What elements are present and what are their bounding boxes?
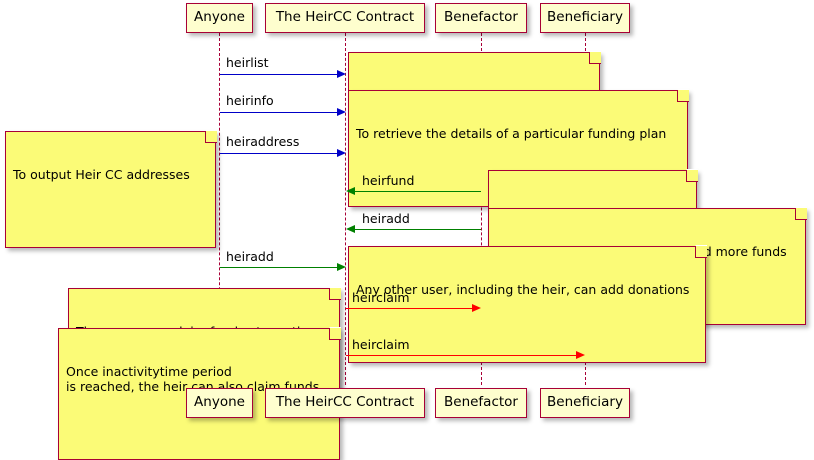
message-arrow-heiradd-any [220, 267, 338, 268]
participant-label: Benefactor [444, 396, 518, 410]
note-fold-icon [686, 170, 698, 182]
participant-benefactor-bottom[interactable]: Benefactor [435, 388, 527, 418]
participant-contract-top[interactable]: The HeirCC Contract [265, 3, 425, 33]
message-arrowhead-heiradd-any [337, 263, 346, 271]
note-text: To retrieve the details of a particular … [356, 126, 679, 141]
note-fold-icon [677, 90, 689, 102]
message-arrowhead-heirfund [346, 187, 355, 195]
note-fold-icon [205, 131, 217, 143]
participant-anyone-top[interactable]: Anyone [186, 3, 253, 33]
participant-contract-bottom[interactable]: The HeirCC Contract [265, 388, 425, 418]
participant-benefactor-top[interactable]: Benefactor [435, 3, 527, 33]
message-label-heiradd-owner: heiradd [362, 213, 410, 226]
message-arrowhead-heirinfo [337, 108, 346, 116]
message-label-heiraddress: heiraddress [226, 136, 299, 149]
note-fold-icon [329, 328, 341, 340]
lifeline-contract [345, 33, 346, 385]
participant-label: The HeirCC Contract [276, 11, 414, 25]
message-arrowhead-heiradd-owner [346, 225, 355, 233]
message-label-heirinfo: heirinfo [226, 95, 274, 108]
participant-label: Benefactor [444, 11, 518, 25]
message-arrowhead-heirlist [337, 70, 346, 78]
message-label-heiradd-any: heiradd [226, 251, 274, 264]
message-arrow-heirclaim-owner [346, 308, 473, 309]
sequence-diagram: Anyone The HeirCC Contract Benefactor Be… [0, 0, 814, 425]
message-arrow-heiraddress [220, 153, 338, 154]
message-label-heirlist: heirlist [226, 57, 269, 70]
message-arrow-heirclaim-heir [346, 355, 577, 356]
note-fold-icon [795, 208, 807, 220]
note-fold-icon [329, 288, 341, 300]
participant-label: Anyone [194, 11, 245, 25]
note-fold-icon [589, 52, 601, 64]
message-label-heirclaim-owner: heirclaim [352, 292, 410, 305]
message-label-heirfund: heirfund [362, 175, 414, 188]
message-arrow-heirfund [354, 191, 481, 192]
note-heiraddress: To output Heir CC addresses [5, 131, 216, 248]
note-fold-icon [695, 246, 707, 258]
message-arrowhead-heirclaim-owner [472, 304, 481, 312]
message-arrow-heiradd-owner [354, 229, 481, 230]
participant-label: Beneficiary [547, 396, 623, 410]
participant-beneficiary-bottom[interactable]: Beneficiary [540, 388, 630, 418]
participant-beneficiary-top[interactable]: Beneficiary [540, 3, 630, 33]
participant-anyone-bottom[interactable]: Anyone [186, 388, 253, 418]
participant-label: The HeirCC Contract [276, 396, 414, 410]
participant-label: Beneficiary [547, 11, 623, 25]
message-arrowhead-heirclaim-heir [576, 351, 585, 359]
message-label-heirclaim-heir: heirclaim [352, 339, 410, 352]
message-arrowhead-heiraddress [337, 149, 346, 157]
note-text: To output Heir CC addresses [13, 167, 207, 182]
message-arrow-heirlist [220, 74, 338, 75]
participant-label: Anyone [194, 396, 245, 410]
message-arrow-heirinfo [220, 112, 338, 113]
